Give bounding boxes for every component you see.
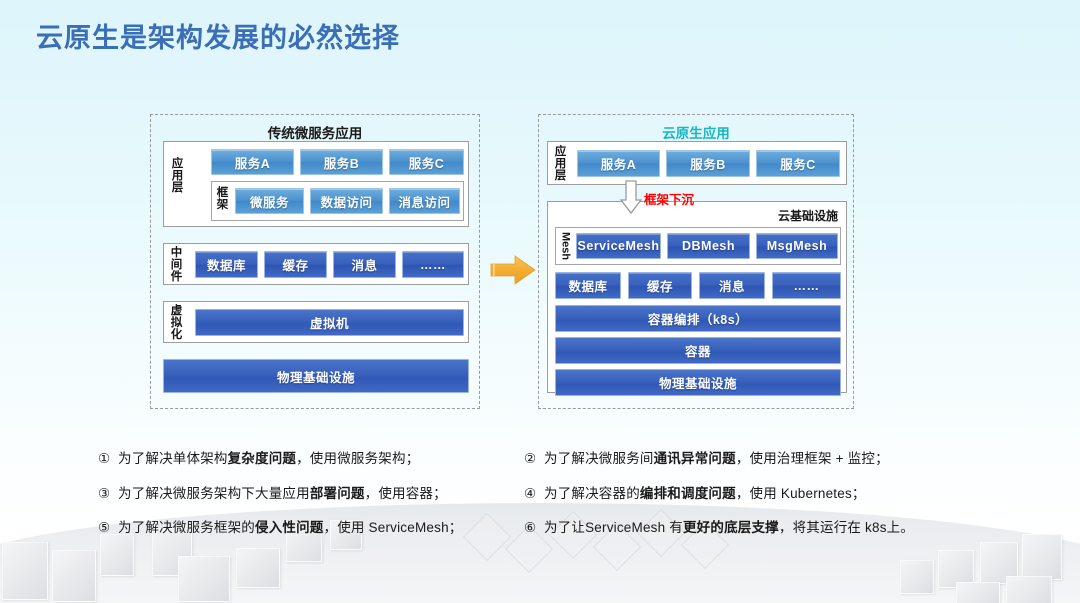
right-arrow-icon bbox=[489, 253, 537, 287]
left-service-c[interactable]: 服务C bbox=[389, 149, 464, 175]
right-middleware-cache[interactable]: 缓存 bbox=[628, 272, 692, 299]
explanation-list: ①为了解决单体架构复杂度问题，使用微服务架构；③为了解决微服务架构下大量应用部署… bbox=[0, 452, 1080, 552]
bullet-number: ⑤ bbox=[98, 521, 118, 535]
page-title: 云原生是架构发展的必然选择 bbox=[36, 16, 400, 55]
left-middleware-group: 中间件 数据库 缓存 消息 …… bbox=[163, 243, 469, 285]
deco-cube bbox=[956, 582, 1000, 603]
bullet-text: 为了解决微服务框架的侵入性问题，使用 ServiceMesh； bbox=[118, 521, 462, 535]
bullet-emphasis: 通讯异常问题 bbox=[654, 451, 736, 466]
bullet-emphasis: 编排和调度问题 bbox=[640, 486, 736, 501]
left-app-layer-group: 应用层 服务A 服务B 服务C 框架 微服务 数据访问 消息访问 bbox=[163, 141, 469, 227]
left-middleware-label: 中间件 bbox=[169, 247, 184, 284]
left-panel-title: 传统微服务应用 bbox=[151, 122, 479, 142]
left-framework-item-message-access[interactable]: 消息访问 bbox=[389, 188, 460, 214]
left-framework-item-microservice[interactable]: 微服务 bbox=[235, 188, 304, 214]
msg-mesh-block[interactable]: MsgMesh bbox=[756, 233, 838, 259]
deco-cube bbox=[52, 550, 96, 602]
bullet-number: ④ bbox=[524, 487, 544, 501]
bullet-text: 为了解决容器的编排和调度问题，使用 Kubernetes； bbox=[544, 487, 866, 501]
right-app-layer-group: 应用层 服务A 服务B 服务C bbox=[547, 141, 847, 185]
bullet-emphasis: 部署问题 bbox=[310, 486, 365, 501]
bullet-number: ⑥ bbox=[524, 521, 544, 535]
db-mesh-block[interactable]: DBMesh bbox=[667, 233, 750, 259]
left-framework-label: 框架 bbox=[215, 187, 230, 211]
container-orchestration-bar[interactable]: 容器编排（k8s） bbox=[555, 305, 841, 332]
left-middleware-message[interactable]: 消息 bbox=[333, 251, 396, 278]
bullet-item-right-1: ②为了解决微服务间通讯异常问题，使用治理框架 + 监控； bbox=[524, 452, 994, 466]
bullet-item-right-3: ⑥为了让ServiceMesh 有更好的底层支撑，将其运行在 k8s上。 bbox=[524, 521, 994, 535]
left-service-b[interactable]: 服务B bbox=[300, 149, 383, 175]
left-middleware-cache[interactable]: 缓存 bbox=[264, 251, 327, 278]
bullet-text: 为了解决微服务架构下大量应用部署问题，使用容器； bbox=[118, 487, 447, 501]
right-app-layer-label: 应用层 bbox=[553, 146, 568, 183]
cloud-infrastructure-caption: 云基础设施 bbox=[778, 207, 838, 224]
bullet-emphasis: 复杂度问题 bbox=[228, 451, 297, 466]
deco-cube bbox=[1006, 576, 1052, 603]
cloud-native-panel: 云原生应用 应用层 服务A 服务B 服务C 云基础设施 Mesh Service… bbox=[538, 114, 854, 409]
bullet-text: 为了解决微服务间通讯异常问题，使用治理框架 + 监控； bbox=[544, 452, 889, 466]
bullet-number: ① bbox=[98, 452, 118, 466]
mesh-label: Mesh bbox=[559, 232, 571, 260]
mesh-frame: Mesh ServiceMesh DBMesh MsgMesh bbox=[555, 227, 841, 265]
deco-cube bbox=[178, 556, 230, 602]
bullet-column-left: ①为了解决单体架构复杂度问题，使用微服务架构；③为了解决微服务架构下大量应用部署… bbox=[98, 452, 518, 556]
bullet-emphasis: 更好的底层支撑 bbox=[683, 520, 779, 535]
left-virtual-machine[interactable]: 虚拟机 bbox=[195, 309, 464, 336]
right-service-a[interactable]: 服务A bbox=[577, 150, 660, 177]
bullet-text: 为了解决单体架构复杂度问题，使用微服务架构； bbox=[118, 452, 419, 466]
right-physical-infrastructure-bar[interactable]: 物理基础设施 bbox=[555, 369, 841, 396]
left-physical-infrastructure[interactable]: 物理基础设施 bbox=[163, 359, 469, 393]
right-panel-title: 云原生应用 bbox=[539, 122, 853, 142]
framework-sink-note: 框架下沉 bbox=[644, 189, 694, 208]
bullet-text: 为了让ServiceMesh 有更好的底层支撑，将其运行在 k8s上。 bbox=[544, 521, 914, 535]
service-mesh-block[interactable]: ServiceMesh bbox=[576, 233, 661, 259]
bullet-item-right-2: ④为了解决容器的编排和调度问题，使用 Kubernetes； bbox=[524, 487, 994, 501]
left-middleware-more[interactable]: …… bbox=[402, 251, 464, 278]
right-middleware-message[interactable]: 消息 bbox=[699, 272, 765, 299]
right-service-b[interactable]: 服务B bbox=[666, 150, 750, 177]
bullet-item-left-2: ③为了解决微服务架构下大量应用部署问题，使用容器； bbox=[98, 487, 518, 501]
right-middleware-more[interactable]: …… bbox=[772, 272, 841, 299]
container-bar[interactable]: 容器 bbox=[555, 337, 841, 364]
left-virtualization-label: 虚拟化 bbox=[169, 305, 184, 342]
deco-cube bbox=[938, 550, 974, 588]
bullet-number: ② bbox=[524, 452, 544, 466]
right-service-c[interactable]: 服务C bbox=[756, 150, 840, 177]
bullet-item-left-3: ⑤为了解决微服务框架的侵入性问题，使用 ServiceMesh； bbox=[98, 521, 518, 535]
deco-cube bbox=[900, 560, 934, 594]
right-middleware-database[interactable]: 数据库 bbox=[555, 272, 621, 299]
left-middleware-database[interactable]: 数据库 bbox=[195, 251, 258, 278]
bullet-item-left-1: ①为了解决单体架构复杂度问题，使用微服务架构； bbox=[98, 452, 518, 466]
bullet-emphasis: 侵入性问题 bbox=[255, 520, 324, 535]
traditional-microservice-panel: 传统微服务应用 应用层 服务A 服务B 服务C 框架 微服务 数据访问 消息访问… bbox=[150, 114, 480, 409]
arrow-down-icon bbox=[620, 180, 642, 214]
left-app-layer-label: 应用层 bbox=[170, 158, 185, 195]
left-framework-frame: 框架 微服务 数据访问 消息访问 bbox=[211, 181, 464, 221]
left-virtualization-group: 虚拟化 虚拟机 bbox=[163, 301, 469, 343]
left-framework-item-data-access[interactable]: 数据访问 bbox=[310, 188, 383, 214]
cloud-infrastructure-group: 云基础设施 Mesh ServiceMesh DBMesh MsgMesh 数据… bbox=[547, 201, 847, 393]
bullet-column-right: ②为了解决微服务间通讯异常问题，使用治理框架 + 监控；④为了解决容器的编排和调… bbox=[524, 452, 994, 556]
bullet-number: ③ bbox=[98, 487, 118, 501]
left-service-a[interactable]: 服务A bbox=[211, 149, 294, 175]
